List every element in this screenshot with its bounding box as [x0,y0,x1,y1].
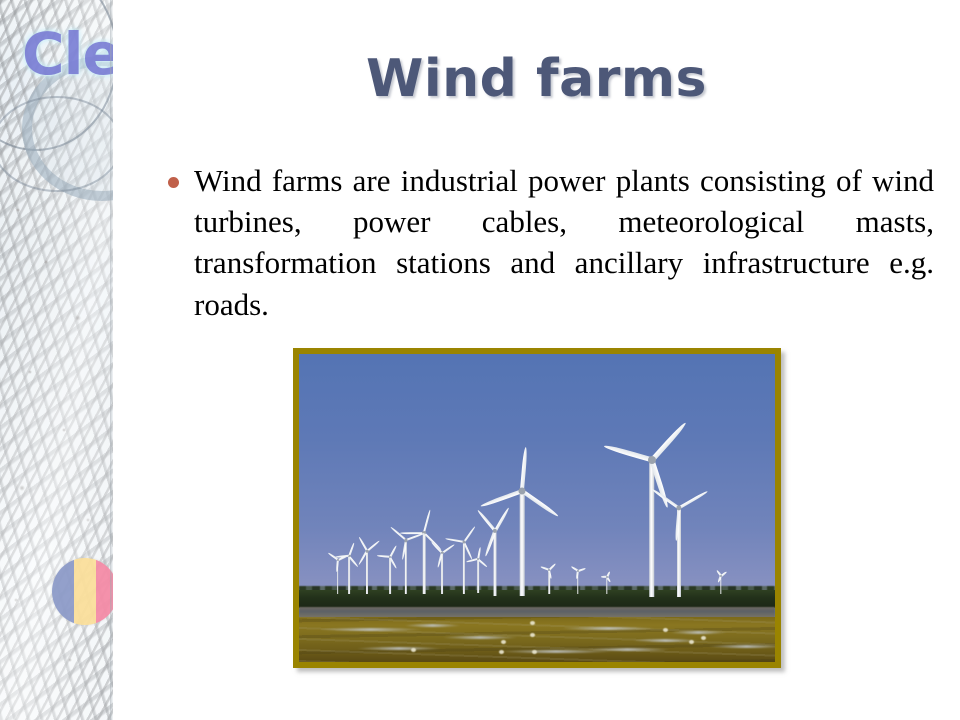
turbine-tower [423,533,426,595]
turbine-tower [493,531,496,596]
bullet-list-item: Wind farms are industrial power plants c… [168,160,934,325]
turbine-icon [478,559,479,593]
turbine-hub [477,558,479,560]
turbine-icon [389,557,390,594]
water-glint [411,648,416,652]
decorative-sidebar: Cle [0,0,113,720]
turbine-tower [366,551,368,594]
turbine-hub [720,575,722,577]
turbine-hub [337,559,339,561]
turbine-tower [441,553,443,595]
outline-ring-small-icon [0,96,113,192]
turbine-icon [494,531,495,596]
water-glint [701,636,706,640]
turbine-icon [349,556,350,595]
turbine-icon [522,491,523,596]
wind-farm-photo [293,348,781,668]
turbine-icon [678,508,679,597]
turbine-icon [549,570,550,595]
turbine-icon [651,460,652,597]
turbine-tower [520,491,525,596]
bullet-text: Wind farms are industrial power plants c… [194,160,934,325]
tricolor-band-yellow [74,558,96,625]
photo-content [299,354,775,662]
turbine-tower [349,556,351,595]
turbine-hub [648,456,656,464]
turbine-tower [477,559,479,593]
turbine-tower [389,557,391,594]
water-reflection-streak [561,627,656,630]
bullet-dot-icon [168,177,179,188]
photo-treeline [299,590,775,608]
water-glint [663,628,668,632]
turbine-icon [720,576,721,594]
turbine-icon [424,533,425,595]
turbine-icon [606,577,607,594]
turbine-icon [442,553,443,595]
water-reflection-streak [356,647,442,650]
water-reflection-streak [404,624,461,627]
turbine-icon [367,551,368,594]
turbine-tower [649,460,655,597]
turbine-hub [366,550,369,553]
slide-canvas: Cle Wind farms Wind farms are industrial… [0,0,960,720]
sidebar-edge-line [110,0,113,720]
page-title: Wind farms [113,52,960,107]
turbine-tower [606,577,607,594]
turbine-icon [577,571,578,594]
turbine-hub [519,488,526,495]
turbine-hub [606,576,608,578]
turbine-hub [548,569,550,571]
turbine-icon [337,560,338,594]
water-reflection-streak [442,636,518,639]
water-glint [499,650,504,654]
water-glint [530,633,535,637]
sidebar-decor-word: Cle [22,20,113,88]
turbine-tower [463,542,465,594]
turbine-icon [463,542,464,594]
turbine-icon [405,540,406,594]
turbine-hub [577,570,579,572]
tricolor-circle-icon [52,558,113,625]
photo-sky [299,354,775,596]
